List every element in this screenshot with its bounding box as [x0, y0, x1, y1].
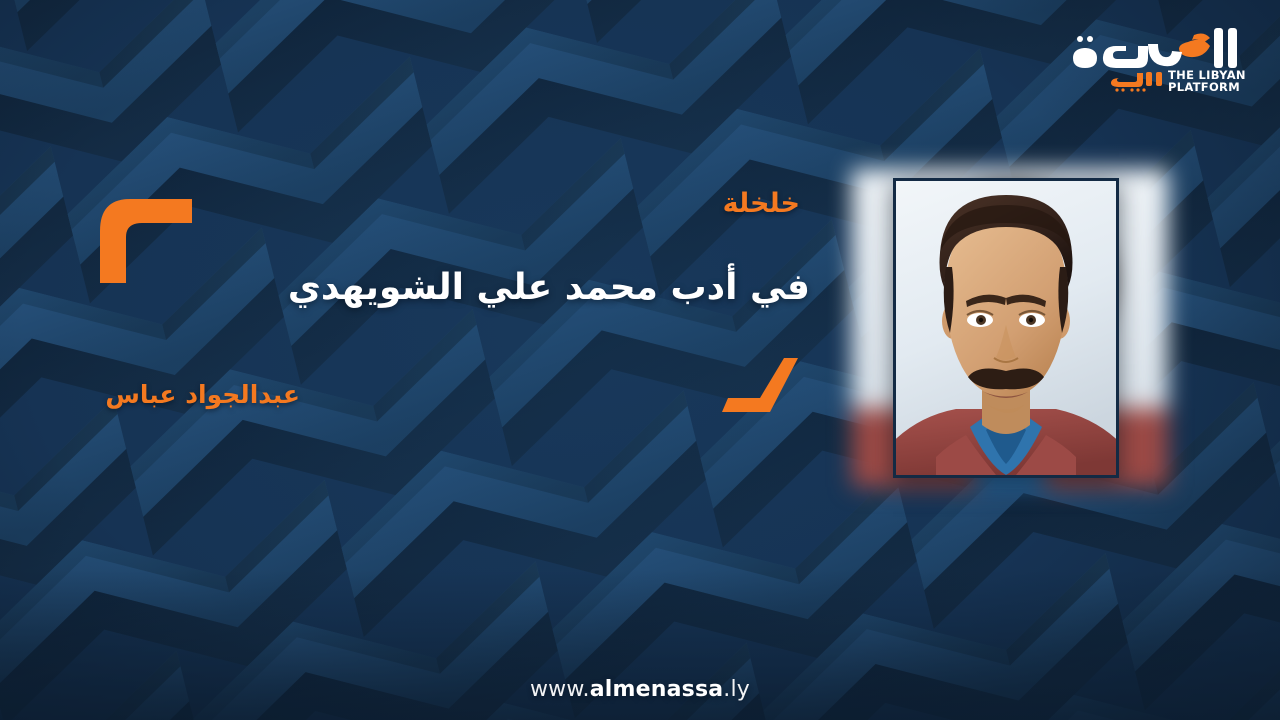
poster-canvas: THE LIBYAN PLATFORM خلخلة في أدب محمد عل…: [0, 0, 1280, 720]
footer-url[interactable]: www.almenassa.ly: [0, 677, 1280, 702]
almenassa-logo[interactable]: THE LIBYAN PLATFORM: [1070, 22, 1256, 94]
footer-url-brand: almenassa: [590, 677, 724, 702]
portrait-photo: [893, 178, 1119, 478]
page-title: في أدب محمد علي الشويهدي: [250, 265, 810, 312]
author-name: عبدالجواد عباس: [40, 380, 300, 409]
kicker-label: خلخلة: [480, 188, 800, 219]
logo-en-line2: PLATFORM: [1168, 80, 1240, 94]
logo-arabic-wordmark: [1073, 28, 1237, 68]
portrait-container: [855, 172, 1165, 484]
closing-quote-mark-icon: [722, 358, 798, 412]
footer-url-prefix: www.: [530, 677, 590, 702]
footer-url-tld: .ly: [723, 677, 750, 702]
opening-quote-mark-icon: [100, 199, 192, 283]
logo-arabic-subword: [1111, 72, 1162, 92]
